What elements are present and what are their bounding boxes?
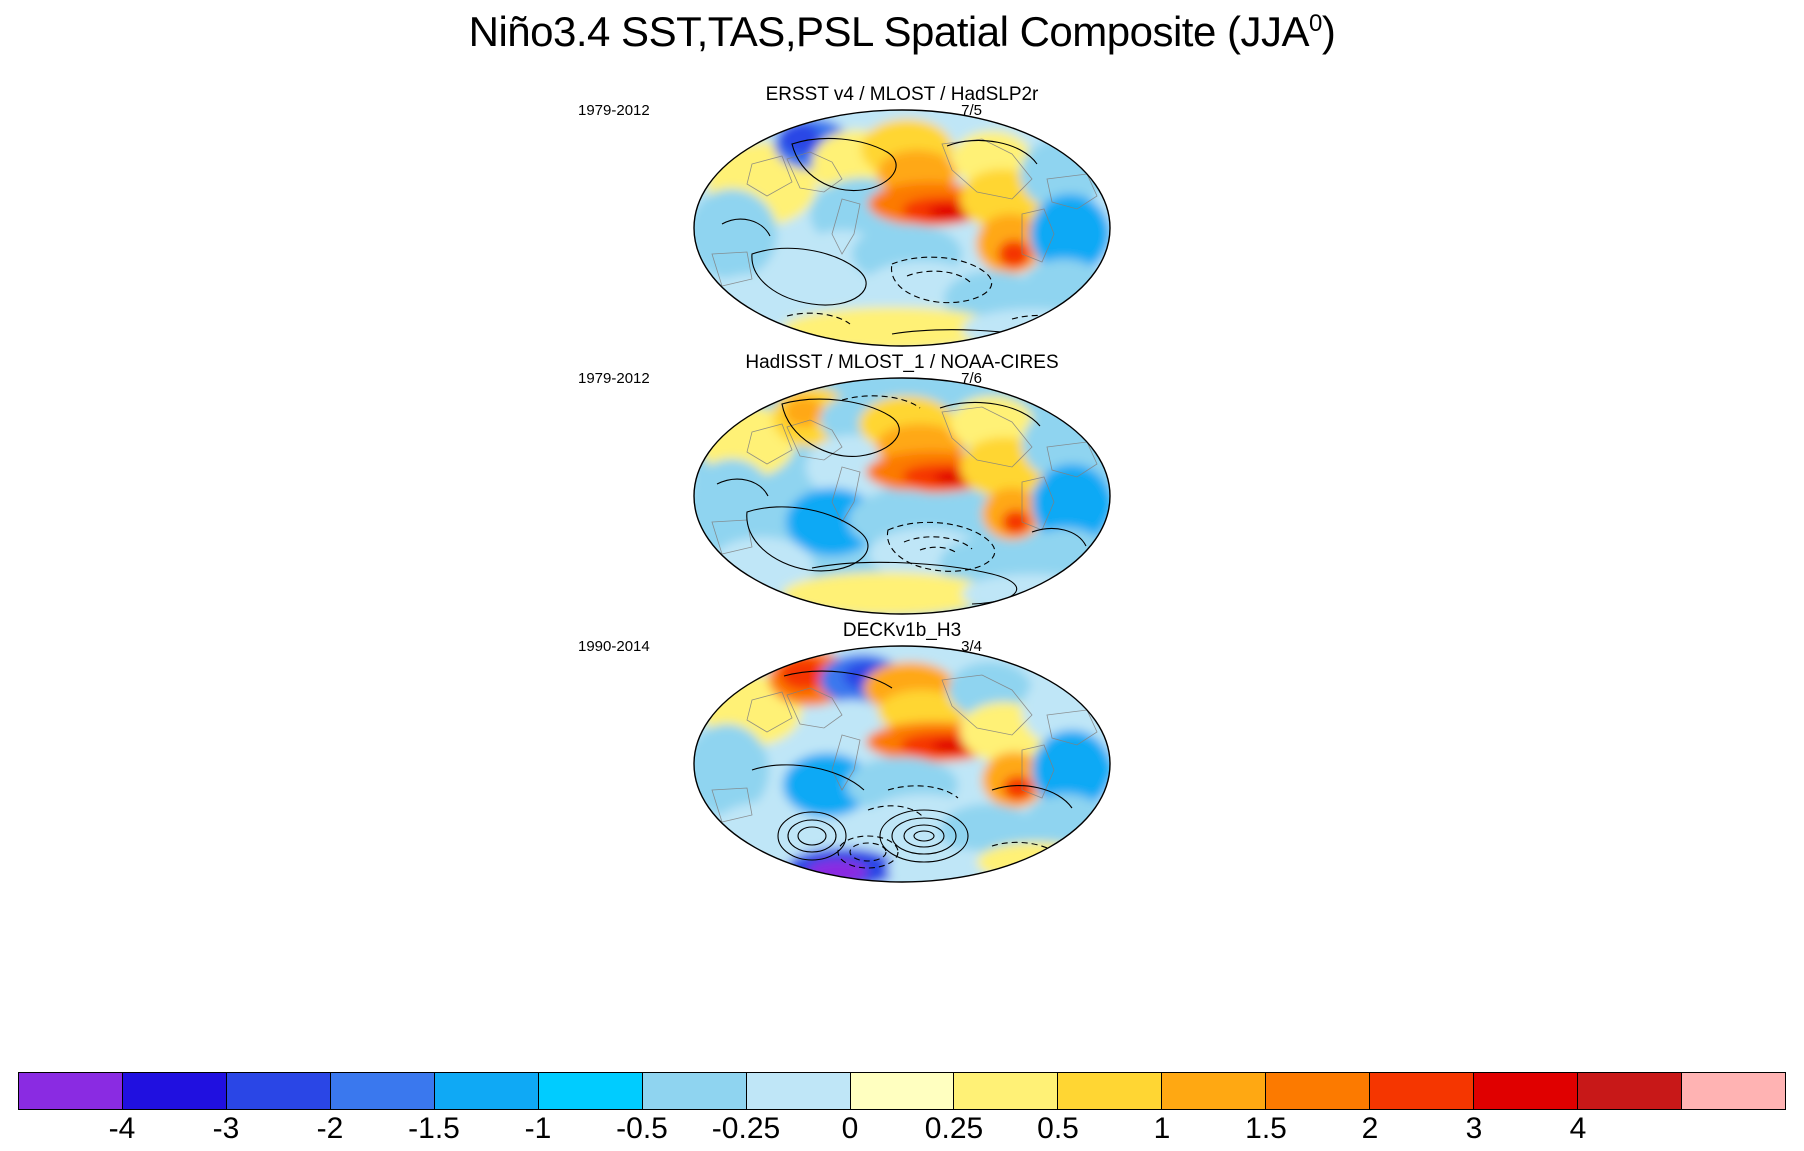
colorbar-segment	[1057, 1073, 1161, 1109]
map-panel-2: HadISST / MLOST_1 / NOAA-CIRES 1979-2012…	[0, 352, 1804, 620]
figure-title: Niño3.4 SST,TAS,PSL Spatial Composite (J…	[0, 8, 1804, 56]
figure-title-closing: )	[1322, 8, 1336, 55]
colorbar-tick-label: -1	[525, 1112, 552, 1146]
colorbar-labels: -4-3-2-1.5-1-0.5-0.2500.250.511.5234	[18, 1112, 1786, 1150]
colorbar-segment	[746, 1073, 850, 1109]
map-panel-1: ERSST v4 / MLOST / HadSLP2r 1979-2012 7/…	[0, 84, 1804, 352]
colorbar-segment	[1473, 1073, 1577, 1109]
colorbar-tick-label: -3	[213, 1112, 240, 1146]
colorbar-tick-label: -2	[317, 1112, 344, 1146]
colorbar-segment	[1681, 1073, 1785, 1109]
colorbar-segment	[850, 1073, 954, 1109]
colorbar-segment	[953, 1073, 1057, 1109]
colorbar-tick-label: 1	[1154, 1112, 1171, 1146]
colorbar-segment	[1577, 1073, 1681, 1109]
colorbar-tick-label: 1.5	[1245, 1112, 1287, 1146]
map-panel-3: DECKv1b_H3 1990-2014 3/4	[0, 620, 1804, 888]
panel-1-period: 1979-2012	[578, 102, 650, 119]
colorbar	[18, 1072, 1786, 1110]
colorbar-tick-label: 0.5	[1037, 1112, 1079, 1146]
colorbar-tick-label: 0	[842, 1112, 859, 1146]
panel-2-period: 1979-2012	[578, 370, 650, 387]
panel-2-map	[692, 372, 1112, 620]
colorbar-tick-label: 0.25	[925, 1112, 983, 1146]
colorbar-segment	[122, 1073, 226, 1109]
colorbar-segment	[19, 1073, 122, 1109]
panel-1-header: ERSST v4 / MLOST / HadSLP2r	[0, 84, 1804, 106]
colorbar-tick-label: 4	[1570, 1112, 1587, 1146]
colorbar-segment	[1161, 1073, 1265, 1109]
figure-canvas: Niño3.4 SST,TAS,PSL Spatial Composite (J…	[0, 0, 1804, 1151]
panel-1-map	[692, 104, 1112, 352]
colorbar-segment	[226, 1073, 330, 1109]
colorbar-tick-label: -0.25	[712, 1112, 780, 1146]
colorbar-segment	[330, 1073, 434, 1109]
colorbar-tick-label: 3	[1466, 1112, 1483, 1146]
figure-title-main: Niño3.4 SST,TAS,PSL Spatial Composite (J…	[469, 8, 1309, 55]
colorbar-segment	[1265, 1073, 1369, 1109]
colorbar-tick-label: -0.5	[616, 1112, 668, 1146]
colorbar-segment	[1369, 1073, 1473, 1109]
panel-3-map	[692, 640, 1112, 888]
panel-3-period: 1990-2014	[578, 638, 650, 655]
colorbar-tick-label: 2	[1362, 1112, 1379, 1146]
colorbar-tick-label: -1.5	[408, 1112, 460, 1146]
colorbar-segment	[434, 1073, 538, 1109]
figure-title-superscript: 0	[1309, 10, 1322, 37]
colorbar-tick-label: -4	[109, 1112, 136, 1146]
colorbar-segment	[538, 1073, 642, 1109]
panel-2-header: HadISST / MLOST_1 / NOAA-CIRES	[0, 352, 1804, 374]
colorbar-segment	[642, 1073, 746, 1109]
panel-3-header: DECKv1b_H3	[0, 620, 1804, 642]
